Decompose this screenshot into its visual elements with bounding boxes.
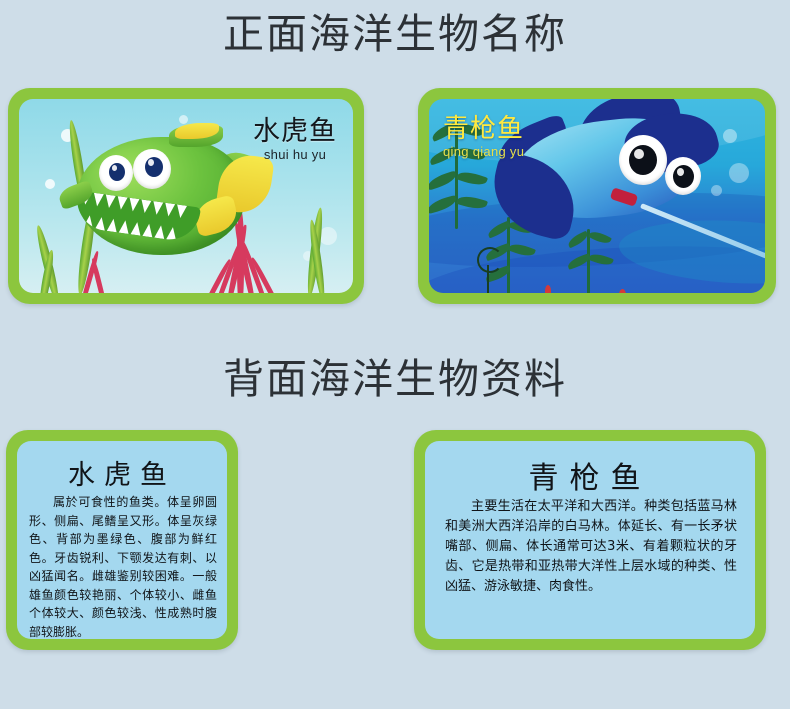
spiral-frond-icon (477, 247, 503, 273)
back-card-content-piranha: 水虎鱼 属於可食性的鱼类。体呈卵圆形、侧扁、尾鳍呈又形。体呈灰绿色、背部为墨绿色… (17, 441, 227, 639)
spiral-frond-stem (487, 265, 489, 293)
front-card-name-piranha: 水虎鱼 shui hu yu (253, 117, 337, 163)
bubble-icon (729, 163, 749, 183)
species-name-pinyin: qing qiang yu (443, 144, 524, 160)
front-card-name-marlin: 青枪鱼 qing qiang yu (443, 115, 524, 160)
front-card-piranha[interactable]: 水虎鱼 shui hu yu (8, 88, 364, 304)
section-heading-front: 正面海洋生物名称 (0, 8, 790, 60)
species-name-cn: 水虎鱼 (253, 117, 337, 147)
bubble-icon (45, 179, 55, 189)
species-name-pinyin: shui hu yu (253, 147, 337, 163)
bubble-icon (723, 129, 737, 143)
section-heading-back: 背面海洋生物资料 (0, 353, 790, 405)
front-card-marlin[interactable]: 青枪鱼 qing qiang yu (418, 88, 776, 304)
marlin-pupil (629, 145, 657, 175)
fish-pupil (109, 163, 125, 181)
card-artwork-marlin: 青枪鱼 qing qiang yu (429, 99, 765, 293)
back-card-title: 青枪鱼 (425, 453, 755, 497)
fish-pupil (145, 157, 163, 177)
bubble-icon (711, 185, 722, 196)
species-name-cn: 青枪鱼 (443, 115, 524, 144)
back-card-marlin[interactable]: 青枪鱼 主要生活在太平洋和大西洋。种类包括蓝马林和美洲大西洋沿岸的白马林。体延长… (414, 430, 766, 650)
flashcard-poster: 正面海洋生物名称 (0, 0, 790, 709)
back-card-piranha[interactable]: 水虎鱼 属於可食性的鱼类。体呈卵圆形、侧扁、尾鳍呈又形。体呈灰绿色、背部为墨绿色… (6, 430, 238, 650)
marlin-pupil (673, 165, 694, 188)
back-card-description: 主要生活在太平洋和大西洋。种类包括蓝马林和美洲大西洋沿岸的白马林。体延长、有一长… (445, 497, 737, 597)
back-card-description: 属於可食性的鱼类。体呈卵圆形、侧扁、尾鳍呈又形。体呈灰绿色、背部为墨绿色、腹部为… (29, 493, 217, 639)
bubble-icon (179, 115, 188, 124)
card-artwork-piranha: 水虎鱼 shui hu yu (19, 99, 353, 293)
back-card-content-marlin: 青枪鱼 主要生活在太平洋和大西洋。种类包括蓝马林和美洲大西洋沿岸的白马林。体延长… (425, 441, 755, 639)
back-card-title: 水虎鱼 (17, 453, 227, 492)
coral-accent (545, 285, 551, 293)
